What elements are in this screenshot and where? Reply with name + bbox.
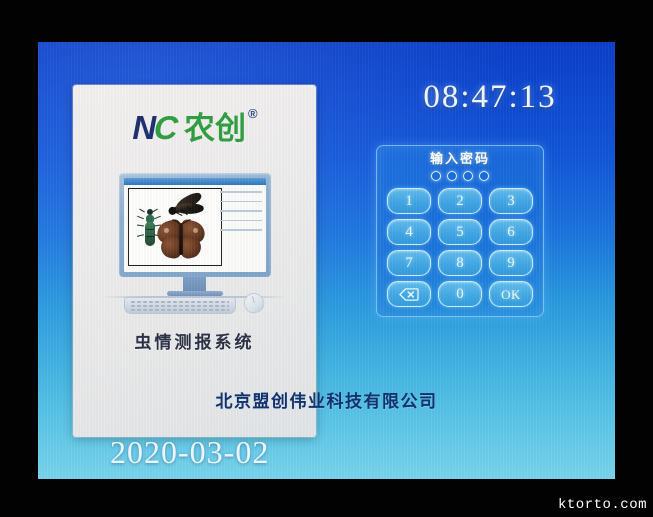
pin-dots (387, 171, 533, 181)
pin-dot (479, 171, 489, 181)
logo-letter-n: N (132, 111, 155, 144)
pin-dot (447, 171, 457, 181)
keyboard-illustration (124, 297, 236, 314)
monitor-bezel (119, 173, 271, 277)
key-1[interactable]: 1 (387, 188, 431, 214)
key-3[interactable]: 3 (489, 188, 533, 214)
key-7[interactable]: 7 (387, 250, 431, 276)
key-9[interactable]: 9 (489, 250, 533, 276)
insect-photo-panel (128, 188, 222, 266)
password-keypad-panel: 输入密码 1 2 3 4 5 6 7 8 9 (376, 145, 544, 317)
backspace-icon[interactable] (387, 281, 431, 307)
company-name: 北京盟创伟业科技有限公司 (38, 387, 615, 412)
pin-dot (431, 171, 441, 181)
splash-card: N C 农创 ® (73, 85, 316, 437)
key-8[interactable]: 8 (438, 250, 482, 276)
photo-frame: N C 农创 ® (0, 0, 653, 517)
mouse-illustration (241, 290, 266, 315)
logo-chinese-name: 农创 (184, 114, 246, 145)
key-2[interactable]: 2 (438, 188, 482, 214)
date-display: 2020-03-02 (110, 434, 269, 471)
watermark: ktorto.com (558, 497, 647, 513)
window-titlebar (124, 178, 266, 185)
clock-display: 08:47:13 (385, 79, 595, 116)
brand-logo: N C 农创 ® (73, 107, 316, 149)
logo-mark: N C 农创 ® (132, 111, 256, 145)
monitor-neck (183, 277, 206, 292)
computer-illustration (101, 173, 288, 323)
terminal-screen: N C 农创 ® (38, 42, 615, 479)
key-ok[interactable]: OK (489, 281, 533, 307)
key-4[interactable]: 4 (387, 219, 431, 245)
butterfly-icon (155, 219, 207, 261)
monitor-screen (124, 178, 266, 272)
key-6[interactable]: 6 (489, 219, 533, 245)
report-text-lines (220, 191, 262, 231)
logo-letter-c: C (153, 111, 178, 144)
system-name-caption: 虫情测报系统 (73, 328, 316, 353)
keypad-title: 输入密码 (387, 153, 533, 167)
key-5[interactable]: 5 (438, 219, 482, 245)
keypad-grid: 1 2 3 4 5 6 7 8 9 0 OK (387, 188, 533, 307)
registered-trademark-icon: ® (248, 107, 257, 120)
key-0[interactable]: 0 (438, 281, 482, 307)
pin-dot (463, 171, 473, 181)
